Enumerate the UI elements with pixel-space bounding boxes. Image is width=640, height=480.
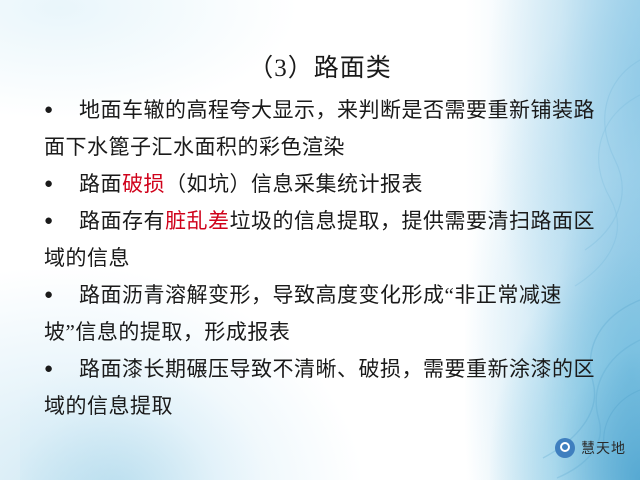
list-item: ● 路面沥青溶解变形，导致高度变化形成“非正常减速坡”信息的提取，形成报表 — [44, 277, 600, 351]
page-title: （3）路面类 — [0, 48, 640, 84]
list-item-text: 地面车辙的高程夸大显示，来判断是否需要重新铺装路面下水篦子汇水面积的彩色渲染 — [44, 98, 595, 159]
list-item-text: 路面漆长期碾压导致不清晰、破损，需要重新涂漆的区域的信息提取 — [44, 357, 595, 418]
list-item: ● 路面破损（如坑）信息采集统计报表 — [44, 166, 600, 203]
bullet-marker-icon: ● — [44, 102, 54, 118]
bullet-marker-icon: ● — [44, 213, 54, 229]
list-item-text: 路面沥青溶解变形，导致高度变化形成“非正常减速坡”信息的提取，形成报表 — [44, 283, 562, 344]
bullet-marker-icon: ● — [44, 361, 54, 377]
list-item-highlight: 破损 — [122, 172, 165, 196]
list-item: ● 路面漆长期碾压导致不清晰、破损，需要重新涂漆的区域的信息提取 — [44, 351, 600, 425]
bullet-marker-icon: ● — [44, 176, 54, 192]
list-item-text: （如坑）信息采集统计报表 — [165, 172, 423, 196]
bullet-list: ● 地面车辙的高程夸大显示，来判断是否需要重新铺装路面下水篦子汇水面积的彩色渲染… — [44, 92, 600, 425]
list-item: ● 路面存有脏乱差垃圾的信息提取，提供需要清扫路面区域的信息 — [44, 203, 600, 277]
footer-logo: 慧天地 — [555, 438, 626, 458]
bullet-marker-icon: ● — [44, 287, 54, 303]
brand-name: 慧天地 — [581, 438, 626, 458]
list-item: ● 地面车辙的高程夸大显示，来判断是否需要重新铺装路面下水篦子汇水面积的彩色渲染 — [44, 92, 600, 166]
list-item-text: 路面存有 — [58, 209, 166, 233]
list-item-highlight: 脏乱差 — [165, 209, 230, 233]
brand-mark-icon — [555, 438, 575, 458]
slide-canvas: （3）路面类 ● 地面车辙的高程夸大显示，来判断是否需要重新铺装路面下水篦子汇水… — [0, 0, 640, 480]
list-item-text: 路面 — [58, 172, 123, 196]
